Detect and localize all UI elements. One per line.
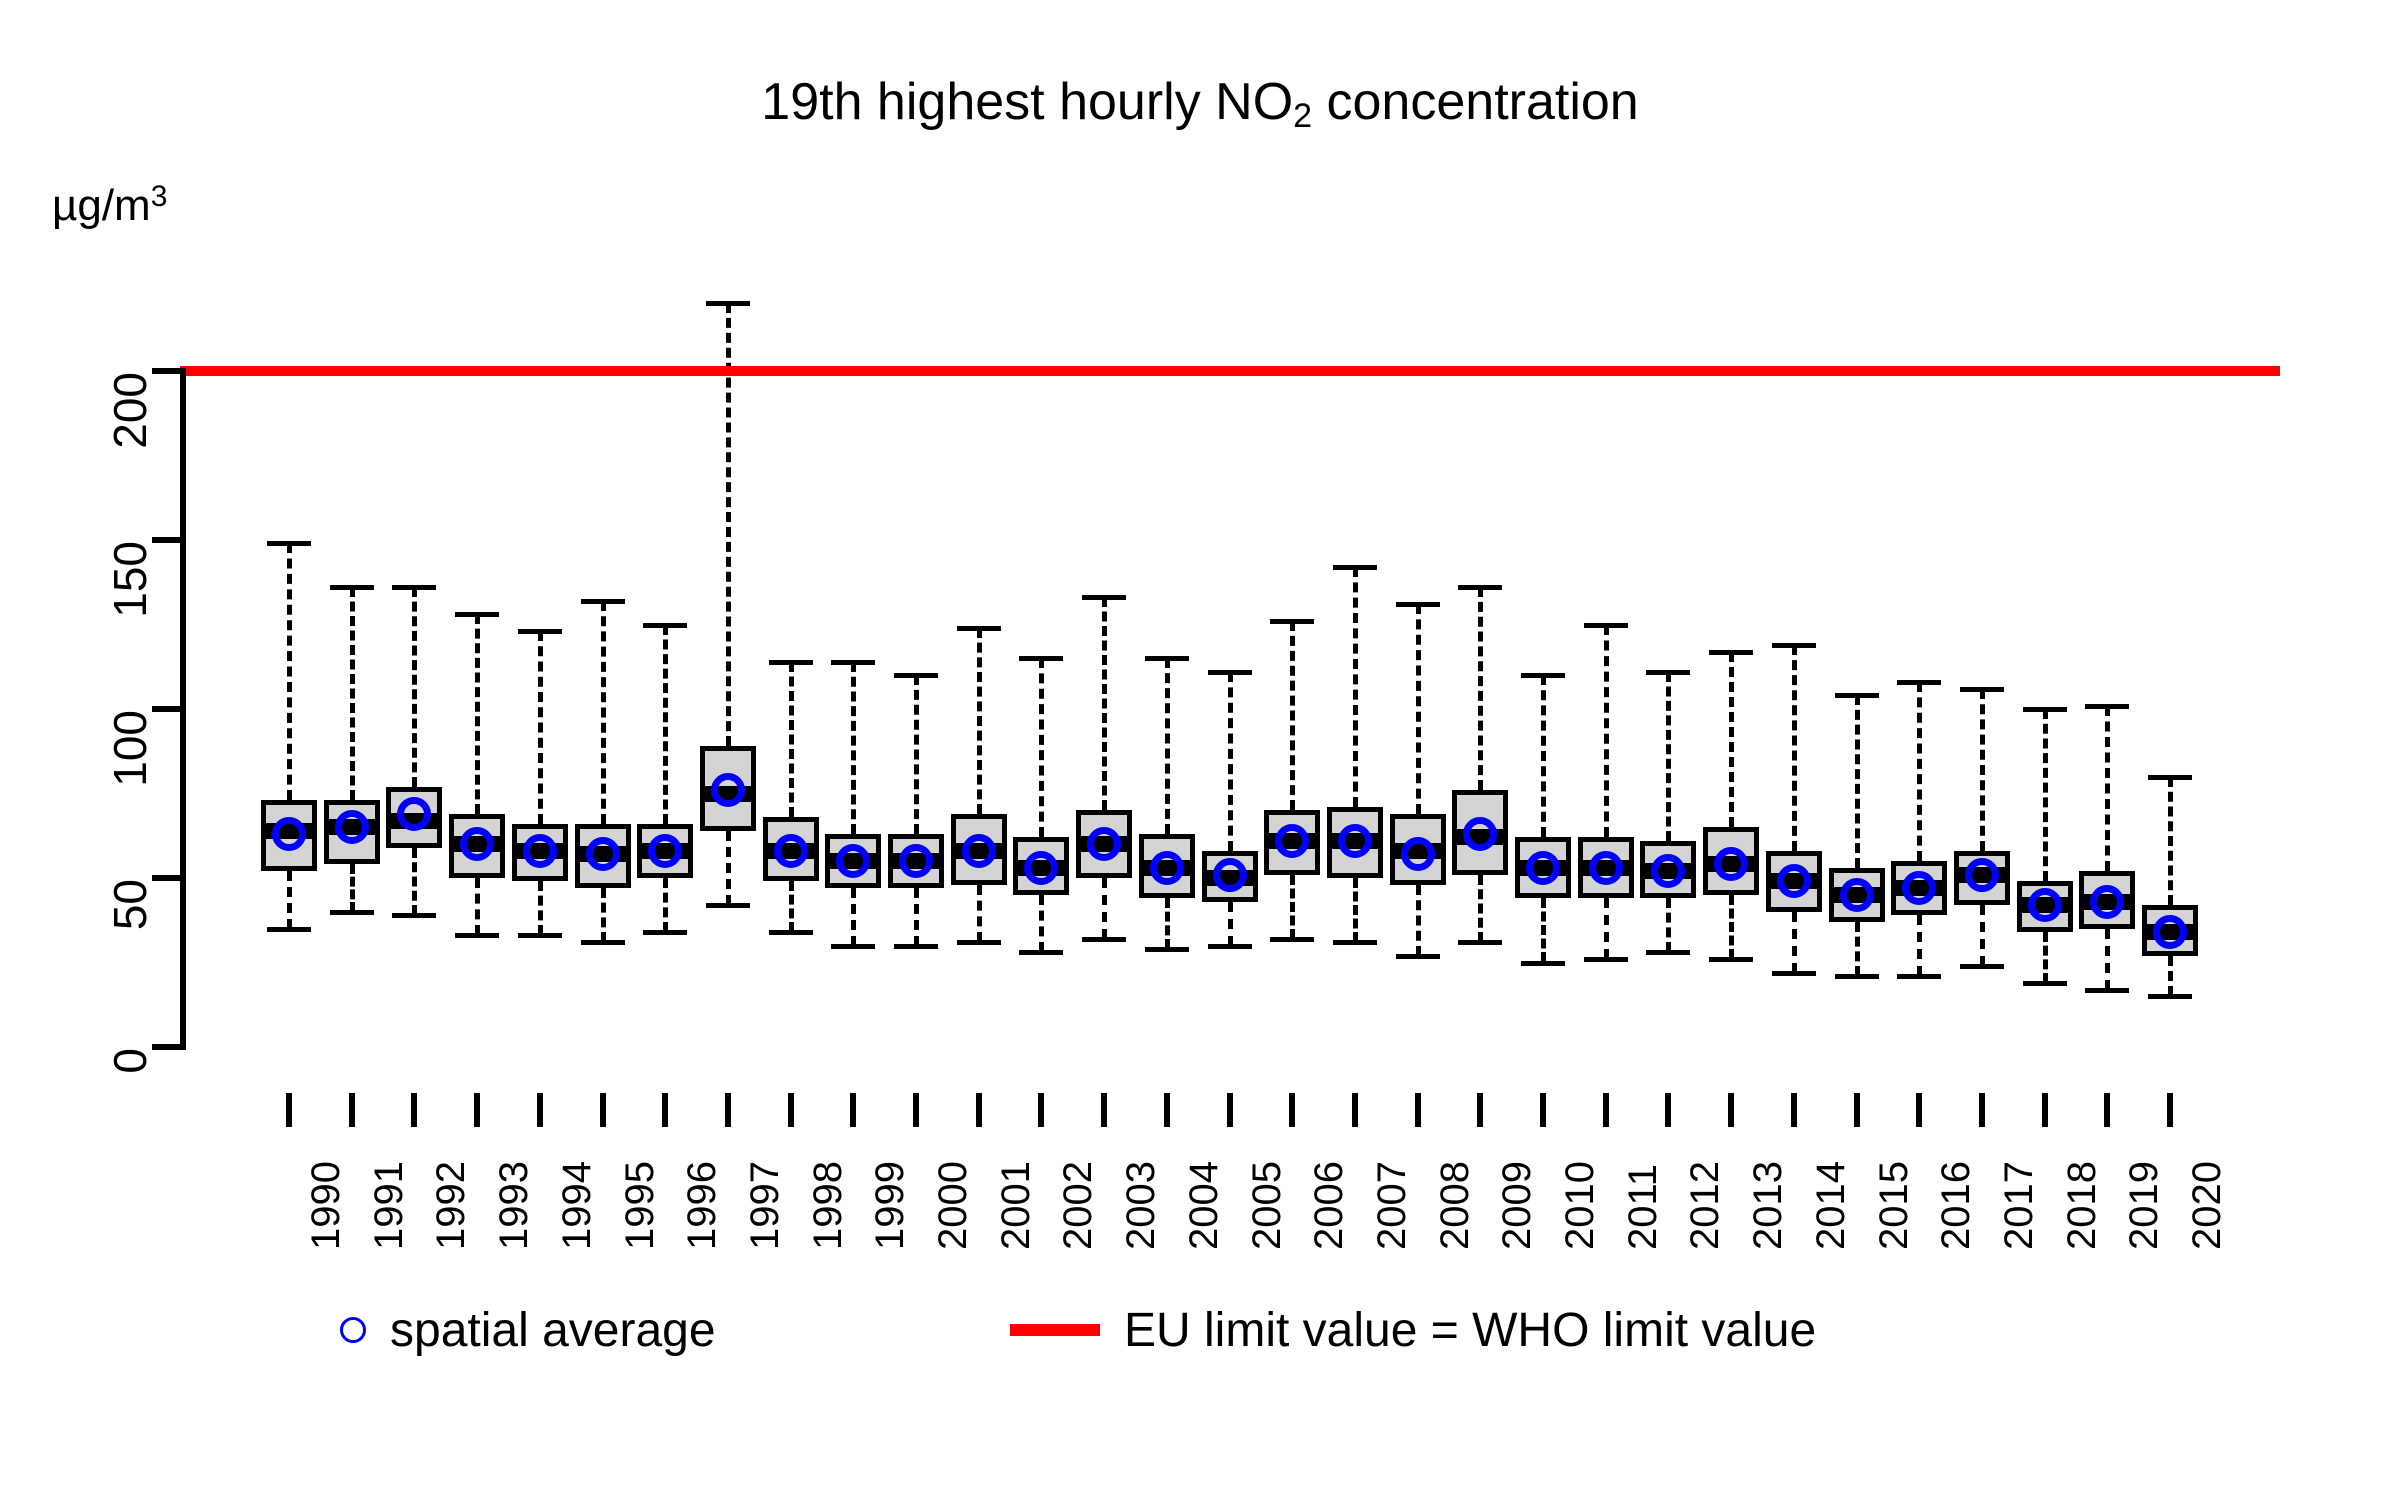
x-axis-tick-label: 2000 <box>931 1161 976 1250</box>
x-axis-tick-label: 2005 <box>1245 1161 1290 1250</box>
x-axis-tick-label: 1990 <box>304 1161 349 1250</box>
x-axis-tick-label: 2011 <box>1621 1164 1666 1250</box>
x-axis-tick <box>537 1093 543 1127</box>
limit-value-marker-icon <box>1010 1324 1100 1336</box>
x-axis-tick-label: 1991 <box>367 1161 412 1250</box>
x-axis-tick-label: 2004 <box>1182 1161 1227 1250</box>
x-axis-tick <box>1477 1093 1483 1127</box>
x-axis-tick <box>2042 1093 2048 1127</box>
spatial-average-marker-icon <box>340 1317 366 1343</box>
x-axis-tick-label: 1995 <box>618 1161 663 1250</box>
x-axis-tick <box>1791 1093 1797 1127</box>
x-axis-tick-label: 2018 <box>2060 1161 2105 1250</box>
x-axis-tick <box>474 1093 480 1127</box>
plot-area <box>0 0 2400 1500</box>
x-axis-tick <box>850 1093 856 1127</box>
x-axis-tick-label: 2006 <box>1307 1161 1352 1250</box>
x-axis-tick <box>662 1093 668 1127</box>
x-axis-tick-label: 2002 <box>1056 1161 1101 1250</box>
x-axis-tick-label: 1993 <box>492 1161 537 1250</box>
x-axis-tick-label: 2010 <box>1558 1161 1603 1250</box>
x-axis-tick <box>2167 1093 2173 1127</box>
x-axis-tick <box>1352 1093 1358 1127</box>
eu-who-limit-line <box>180 366 2280 376</box>
y-axis-tick-label: 0 <box>103 1048 157 1168</box>
x-axis-tick <box>1164 1093 1170 1127</box>
x-axis-tick <box>1854 1093 1860 1127</box>
x-axis-tick-label: 2016 <box>1934 1161 1979 1250</box>
x-axis-tick <box>1916 1093 1922 1127</box>
x-axis-tick <box>1540 1093 1546 1127</box>
x-axis-tick <box>1603 1093 1609 1127</box>
x-axis-tick <box>1101 1093 1107 1127</box>
x-axis-tick-label: 2008 <box>1433 1161 1478 1250</box>
y-axis-tick <box>152 537 186 543</box>
x-axis-tick <box>1979 1093 1985 1127</box>
legend-item-spatial-average: spatial average <box>340 1285 716 1375</box>
legend-label-spatial-average: spatial average <box>390 1303 716 1358</box>
x-axis-tick-label: 1996 <box>680 1161 725 1250</box>
x-axis-tick <box>1665 1093 1671 1127</box>
x-axis-tick <box>913 1093 919 1127</box>
x-axis-tick-label: 2001 <box>994 1161 1039 1250</box>
x-axis-tick-label: 1998 <box>806 1161 851 1250</box>
x-axis-tick <box>1728 1093 1734 1127</box>
x-axis-tick-label: 2017 <box>1997 1161 2042 1250</box>
x-axis-tick <box>286 1093 292 1127</box>
x-axis-tick-label: 2013 <box>1746 1161 1791 1250</box>
x-axis-tick-label: 2012 <box>1683 1161 1728 1250</box>
chart-root: 19th highest hourly NO2 concentration µg… <box>0 0 2400 1500</box>
legend-label-limit-value: EU limit value = WHO limit value <box>1124 1303 1816 1358</box>
x-axis-tick-label: 2003 <box>1119 1161 1164 1250</box>
whisker-cap-lower <box>2148 994 2192 999</box>
y-axis-tick-label: 50 <box>103 879 157 999</box>
x-axis-tick <box>1415 1093 1421 1127</box>
whisker-upper <box>2168 777 2173 905</box>
legend-item-limit-value: EU limit value = WHO limit value <box>1010 1285 1816 1375</box>
x-axis-tick <box>725 1093 731 1127</box>
y-axis-tick-label: 150 <box>103 541 157 661</box>
y-axis-tick-label: 200 <box>103 372 157 492</box>
x-axis-tick-label: 2007 <box>1370 1161 1415 1250</box>
x-axis-tick-label: 2015 <box>1872 1161 1917 1250</box>
x-axis-tick-label: 2014 <box>1809 1161 1854 1250</box>
whisker-cap-upper <box>2148 775 2192 780</box>
y-axis-tick <box>152 368 186 374</box>
x-axis-tick <box>2104 1093 2110 1127</box>
x-axis-tick <box>1289 1093 1295 1127</box>
x-axis-tick-label: 1999 <box>868 1161 913 1250</box>
x-axis-tick <box>1038 1093 1044 1127</box>
x-axis-tick-label: 2019 <box>2122 1161 2167 1250</box>
legend: spatial average EU limit value = WHO lim… <box>0 1285 2400 1375</box>
x-axis-tick-label: 1997 <box>743 1161 788 1250</box>
x-axis-tick <box>976 1093 982 1127</box>
x-axis-tick-label: 1994 <box>555 1161 600 1250</box>
x-axis-tick-label: 1992 <box>429 1161 474 1250</box>
x-axis-tick <box>411 1093 417 1127</box>
x-axis-tick-label: 2009 <box>1495 1161 1540 1250</box>
x-axis-tick-label: 2020 <box>2185 1161 2230 1250</box>
x-axis-tick <box>788 1093 794 1127</box>
boxplot-2020 <box>0 0 2400 1500</box>
y-axis-tick-label: 100 <box>103 710 157 830</box>
x-axis-tick <box>1227 1093 1233 1127</box>
x-axis-tick <box>349 1093 355 1127</box>
y-axis-tick <box>152 706 186 712</box>
x-axis-tick <box>600 1093 606 1127</box>
whisker-lower <box>2168 956 2173 997</box>
spatial-average-point <box>2153 915 2187 949</box>
y-axis-tick <box>152 875 186 881</box>
y-axis-tick <box>152 1044 186 1050</box>
